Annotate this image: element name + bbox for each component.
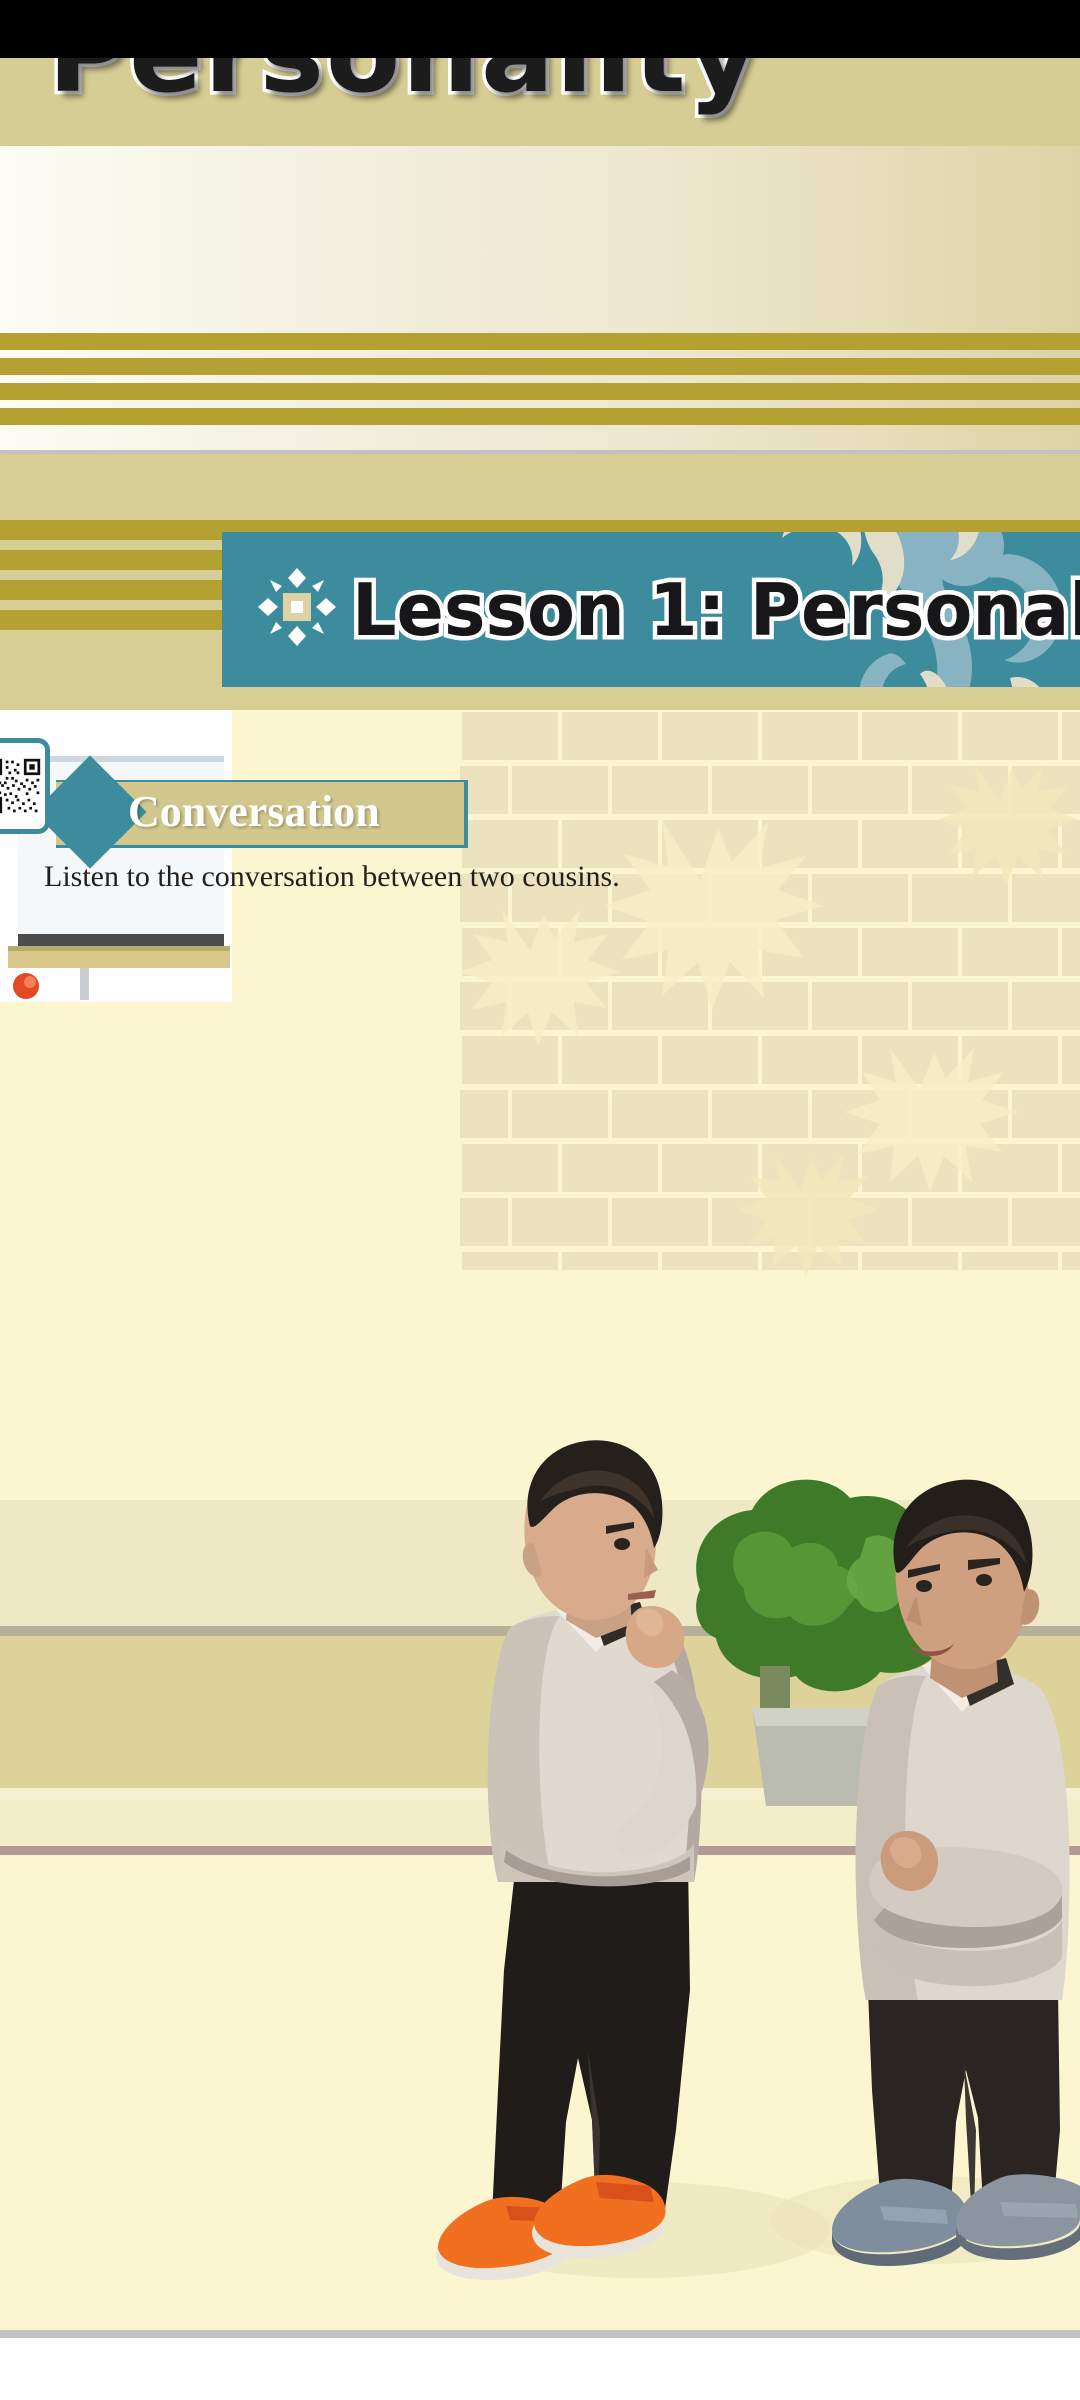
upper-gold-stripes <box>0 333 1080 423</box>
lesson-banner: Lesson 1: Personality <box>222 532 1080 687</box>
stripe-1 <box>0 333 1080 350</box>
footer-rule <box>0 2330 1080 2338</box>
chapter-title-strip: Personality <box>0 58 1080 146</box>
qr-code-icon[interactable] <box>0 738 50 834</box>
stripe-4 <box>0 408 1080 425</box>
textbook-page: Lesson 1: Personality <box>0 0 1080 2400</box>
chapter-title: Personality <box>48 58 760 117</box>
geometric-star-ornament-icon <box>258 568 336 646</box>
stripe-3 <box>0 383 1080 400</box>
top-black-bar <box>0 0 1080 58</box>
lesson-title: Lesson 1: Personality <box>352 546 1080 674</box>
stripe-2 <box>0 358 1080 375</box>
schoolyard-photo <box>0 1430 1080 2330</box>
maple-leaf-watermarks <box>400 710 1080 1350</box>
footer-whitespace <box>0 2338 1080 2400</box>
listening-instruction: Listen to the conversation between two c… <box>44 856 620 898</box>
qr-code-glyph <box>0 746 42 826</box>
conversation-section-label: Conversation <box>128 778 380 846</box>
